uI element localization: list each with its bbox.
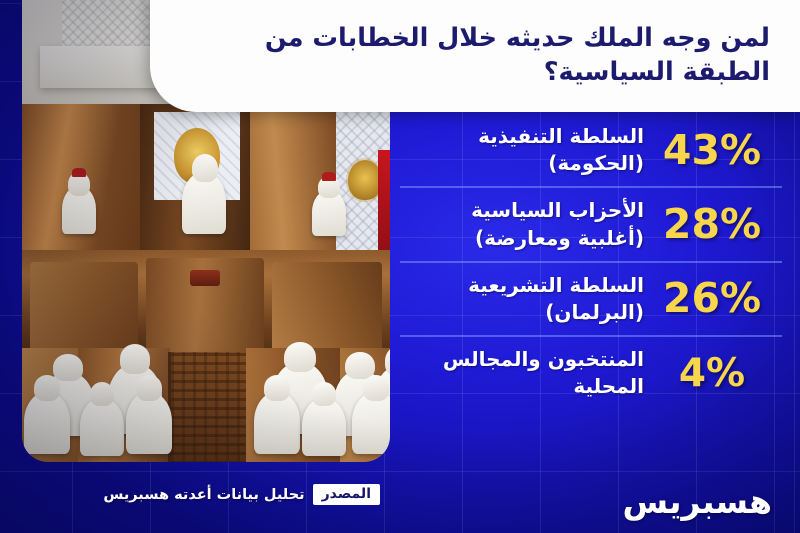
- stat-label: الأحزاب السياسية (أغلبية ومعارضة): [400, 197, 644, 251]
- photo-audience-member: [302, 398, 346, 456]
- photo-podium-panel-right: [272, 262, 382, 358]
- stat-row: 26% السلطة التشريعية (البرلمان): [400, 261, 782, 335]
- photo-audience-hood: [284, 342, 315, 372]
- stat-label: المنتخبون والمجالس المحلية: [400, 346, 644, 400]
- stat-percent: 26%: [658, 278, 766, 319]
- photo-red-fez: [322, 172, 336, 181]
- stat-percent: 4%: [658, 354, 766, 393]
- stat-row: 43% السلطة التنفيذية (الحكومة): [400, 114, 782, 186]
- photo-audience-hood: [90, 382, 115, 406]
- source-badge: المصدر: [313, 484, 380, 505]
- photo-audience-member: [352, 392, 390, 454]
- photo-microphone: [190, 270, 220, 286]
- stat-label: السلطة التنفيذية (الحكومة): [400, 123, 644, 177]
- photo-audience-hood: [312, 382, 337, 406]
- stat-percent: 43%: [658, 130, 766, 171]
- stat-row: 4% المنتخبون والمجالس المحلية: [400, 335, 782, 409]
- stat-label: السلطة التشريعية (البرلمان): [400, 272, 644, 326]
- infographic-poster: لمن وجه الملك حديثه خلال الخطابات من الط…: [0, 0, 800, 533]
- photo-speaker-head: [192, 154, 218, 182]
- photo-red-fez: [72, 168, 86, 177]
- photo-audience-member: [254, 392, 300, 454]
- photo-audience-member: [126, 392, 172, 454]
- photo-audience-member: [24, 392, 70, 454]
- footer: المصدر تحليل بيانات أعدته هسبريس هسبريس: [0, 476, 800, 533]
- photo-podium-panel-left: [30, 262, 138, 358]
- photo-audience-hood: [120, 344, 150, 373]
- photo-moroccan-flag: [378, 150, 390, 258]
- photo-audience-hood: [363, 375, 390, 401]
- stat-percent: 28%: [658, 204, 766, 245]
- stat-row: 28% الأحزاب السياسية (أغلبية ومعارضة): [400, 186, 782, 260]
- photo-audience-member: [80, 398, 124, 456]
- hespress-logo: هسبريس: [623, 482, 773, 521]
- stats-list: 43% السلطة التنفيذية (الحكومة) 28% الأحز…: [400, 114, 782, 410]
- photo-audience-hood: [136, 375, 162, 401]
- source-attribution: المصدر تحليل بيانات أعدته هسبريس: [103, 484, 380, 505]
- source-text: تحليل بيانات أعدته هسبريس: [103, 487, 304, 503]
- photo-carved-door: [168, 352, 252, 462]
- photo-royal-crest: [348, 160, 382, 200]
- photo-audience-hood: [264, 375, 290, 401]
- title-card: لمن وجه الملك حديثه خلال الخطابات من الط…: [150, 0, 800, 112]
- page-title: لمن وجه الملك حديثه خلال الخطابات من الط…: [150, 15, 800, 89]
- photo-audience-hood: [34, 375, 60, 401]
- photo-audience-hood: [53, 354, 82, 381]
